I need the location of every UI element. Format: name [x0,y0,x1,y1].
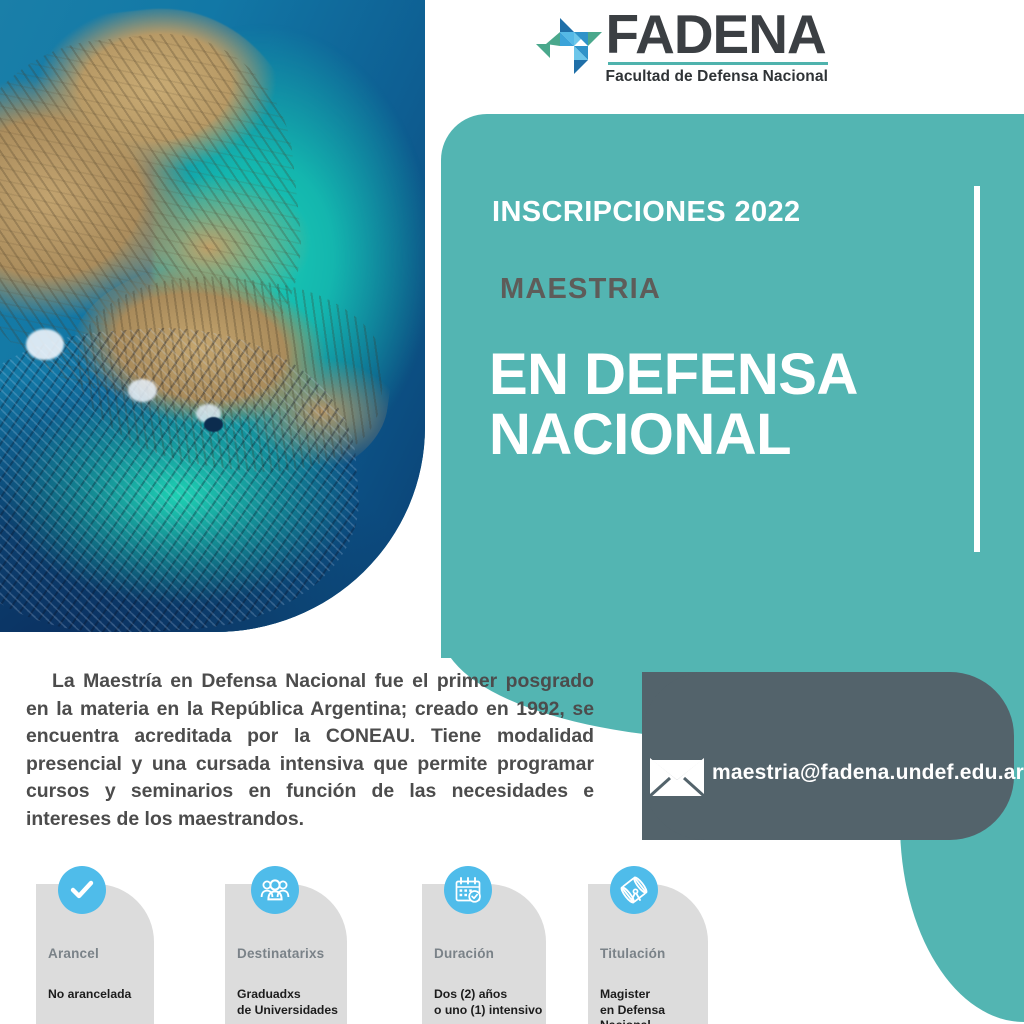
snowfield-1 [26,329,64,361]
card-body: Magisteren DefensaNacional [600,987,665,1024]
poster-canvas: INSCRIPCIONES 2022 MAESTRIA EN DEFENSA N… [0,0,1024,1024]
brand-tagline: Facultad de Defensa Nacional [606,68,828,86]
card-title: Titulación [600,946,666,961]
info-cards: Arancel No arancelada Destinatarixs Grad… [0,860,1024,1024]
brand-name: FADENA [606,8,828,60]
kicker-text: INSCRIPCIONES 2022 [492,196,801,229]
brand-logo: FADENA Facultad de Defensa Nacional [536,8,828,86]
program-level-label: MAESTRIA [500,273,661,306]
card-title: Destinatarixs [237,946,324,961]
check-mark-icon [58,866,106,914]
headline-line-2: NACIONAL [489,405,989,465]
info-card-destinatarixs: Destinatarixs Graduadxsde Universidades [225,884,347,1024]
fadena-pinwheel-logo-icon [536,14,602,76]
info-card-arancel: Arancel No arancelada [36,884,154,1024]
info-card-titulacion: Titulación Magisteren DefensaNacional [588,884,708,1024]
calendar-check-icon [444,866,492,914]
info-card-duracion: Duración Dos (2) añoso uno (1) intensivo [422,884,546,1024]
card-title: Duración [434,946,494,961]
brand-wordmark: FADENA Facultad de Defensa Nacional [606,8,828,86]
card-title: Arancel [48,946,99,961]
card-body: No arancelada [48,987,131,1003]
people-group-icon [251,866,299,914]
headline-line-1: EN DEFENSA [489,345,989,405]
snowfield-2 [128,379,158,402]
envelope-icon [648,754,706,800]
card-body: Graduadxsde Universidades [237,987,338,1018]
diploma-scroll-icon [610,866,658,914]
header: FADENA Facultad de Defensa Nacional [0,0,1024,110]
page-title: EN DEFENSA NACIONAL [489,345,989,466]
card-body: Dos (2) añoso uno (1) intensivo [434,987,542,1018]
program-description: La Maestría en Defensa Nacional fue el p… [26,668,594,833]
contact-email[interactable]: maestria@fadena.undef.edu.ar [712,761,1024,785]
